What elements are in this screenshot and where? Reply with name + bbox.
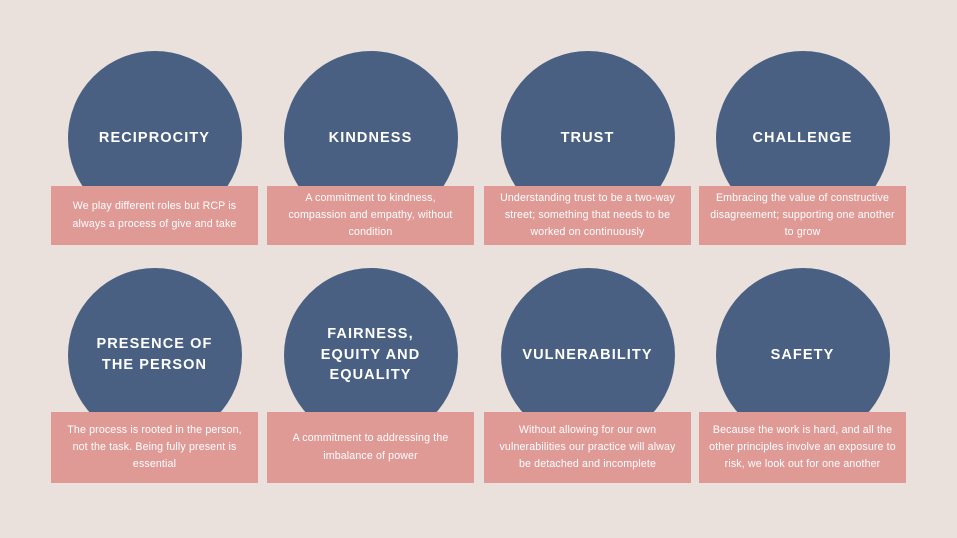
principle-caption-band: Understanding trust to be a two-way stre…: [484, 186, 691, 245]
principle-card-vulnerability[interactable]: VULNERABILITY Without allowing for our o…: [484, 268, 691, 483]
principle-description: Without allowing for our own vulnerabili…: [493, 422, 682, 473]
principle-card-challenge[interactable]: CHALLENGE Embracing the value of constru…: [699, 51, 906, 245]
principle-description: We play different roles but RCP is alway…: [60, 198, 249, 232]
principle-card-fairness-equity-and-equality[interactable]: FAIRNESS, EQUITY AND EQUALITY A commitme…: [267, 268, 474, 483]
principle-card-trust[interactable]: TRUST Understanding trust to be a two-wa…: [484, 51, 691, 245]
principle-description: A commitment to addressing the imbalance…: [276, 430, 465, 464]
principle-title: SAFETY: [771, 345, 835, 366]
principle-caption-band: A commitment to kindness, compassion and…: [267, 186, 474, 245]
principle-description: A commitment to kindness, compassion and…: [276, 190, 465, 241]
principle-title: CHALLENGE: [752, 128, 852, 149]
principle-caption-band: The process is rooted in the person, not…: [51, 412, 258, 483]
principle-caption-band: Because the work is hard, and all the ot…: [699, 412, 906, 483]
principle-title: TRUST: [561, 128, 615, 149]
principle-description: Understanding trust to be a two-way stre…: [493, 190, 682, 241]
principle-description: Because the work is hard, and all the ot…: [708, 422, 897, 473]
principle-title: KINDNESS: [329, 128, 413, 149]
principle-title: RECIPROCITY: [99, 128, 210, 149]
principle-description: The process is rooted in the person, not…: [60, 422, 249, 473]
principle-card-kindness[interactable]: KINDNESS A commitment to kindness, compa…: [267, 51, 474, 245]
principle-caption-band: Without allowing for our own vulnerabili…: [484, 412, 691, 483]
principle-caption-band: Embracing the value of constructive disa…: [699, 186, 906, 245]
principle-title: FAIRNESS, EQUITY AND EQUALITY: [321, 324, 421, 386]
principle-description: Embracing the value of constructive disa…: [708, 190, 897, 241]
principles-board: RECIPROCITY We play different roles but …: [0, 0, 957, 538]
principle-title: VULNERABILITY: [522, 345, 652, 366]
principle-caption-band: A commitment to addressing the imbalance…: [267, 412, 474, 483]
principle-card-presence-of-the-person[interactable]: PRESENCE OF THE PERSON The process is ro…: [51, 268, 258, 483]
principle-card-reciprocity[interactable]: RECIPROCITY We play different roles but …: [51, 51, 258, 245]
principle-title: PRESENCE OF THE PERSON: [96, 334, 212, 375]
principle-caption-band: We play different roles but RCP is alway…: [51, 186, 258, 245]
principle-card-safety[interactable]: SAFETY Because the work is hard, and all…: [699, 268, 906, 483]
